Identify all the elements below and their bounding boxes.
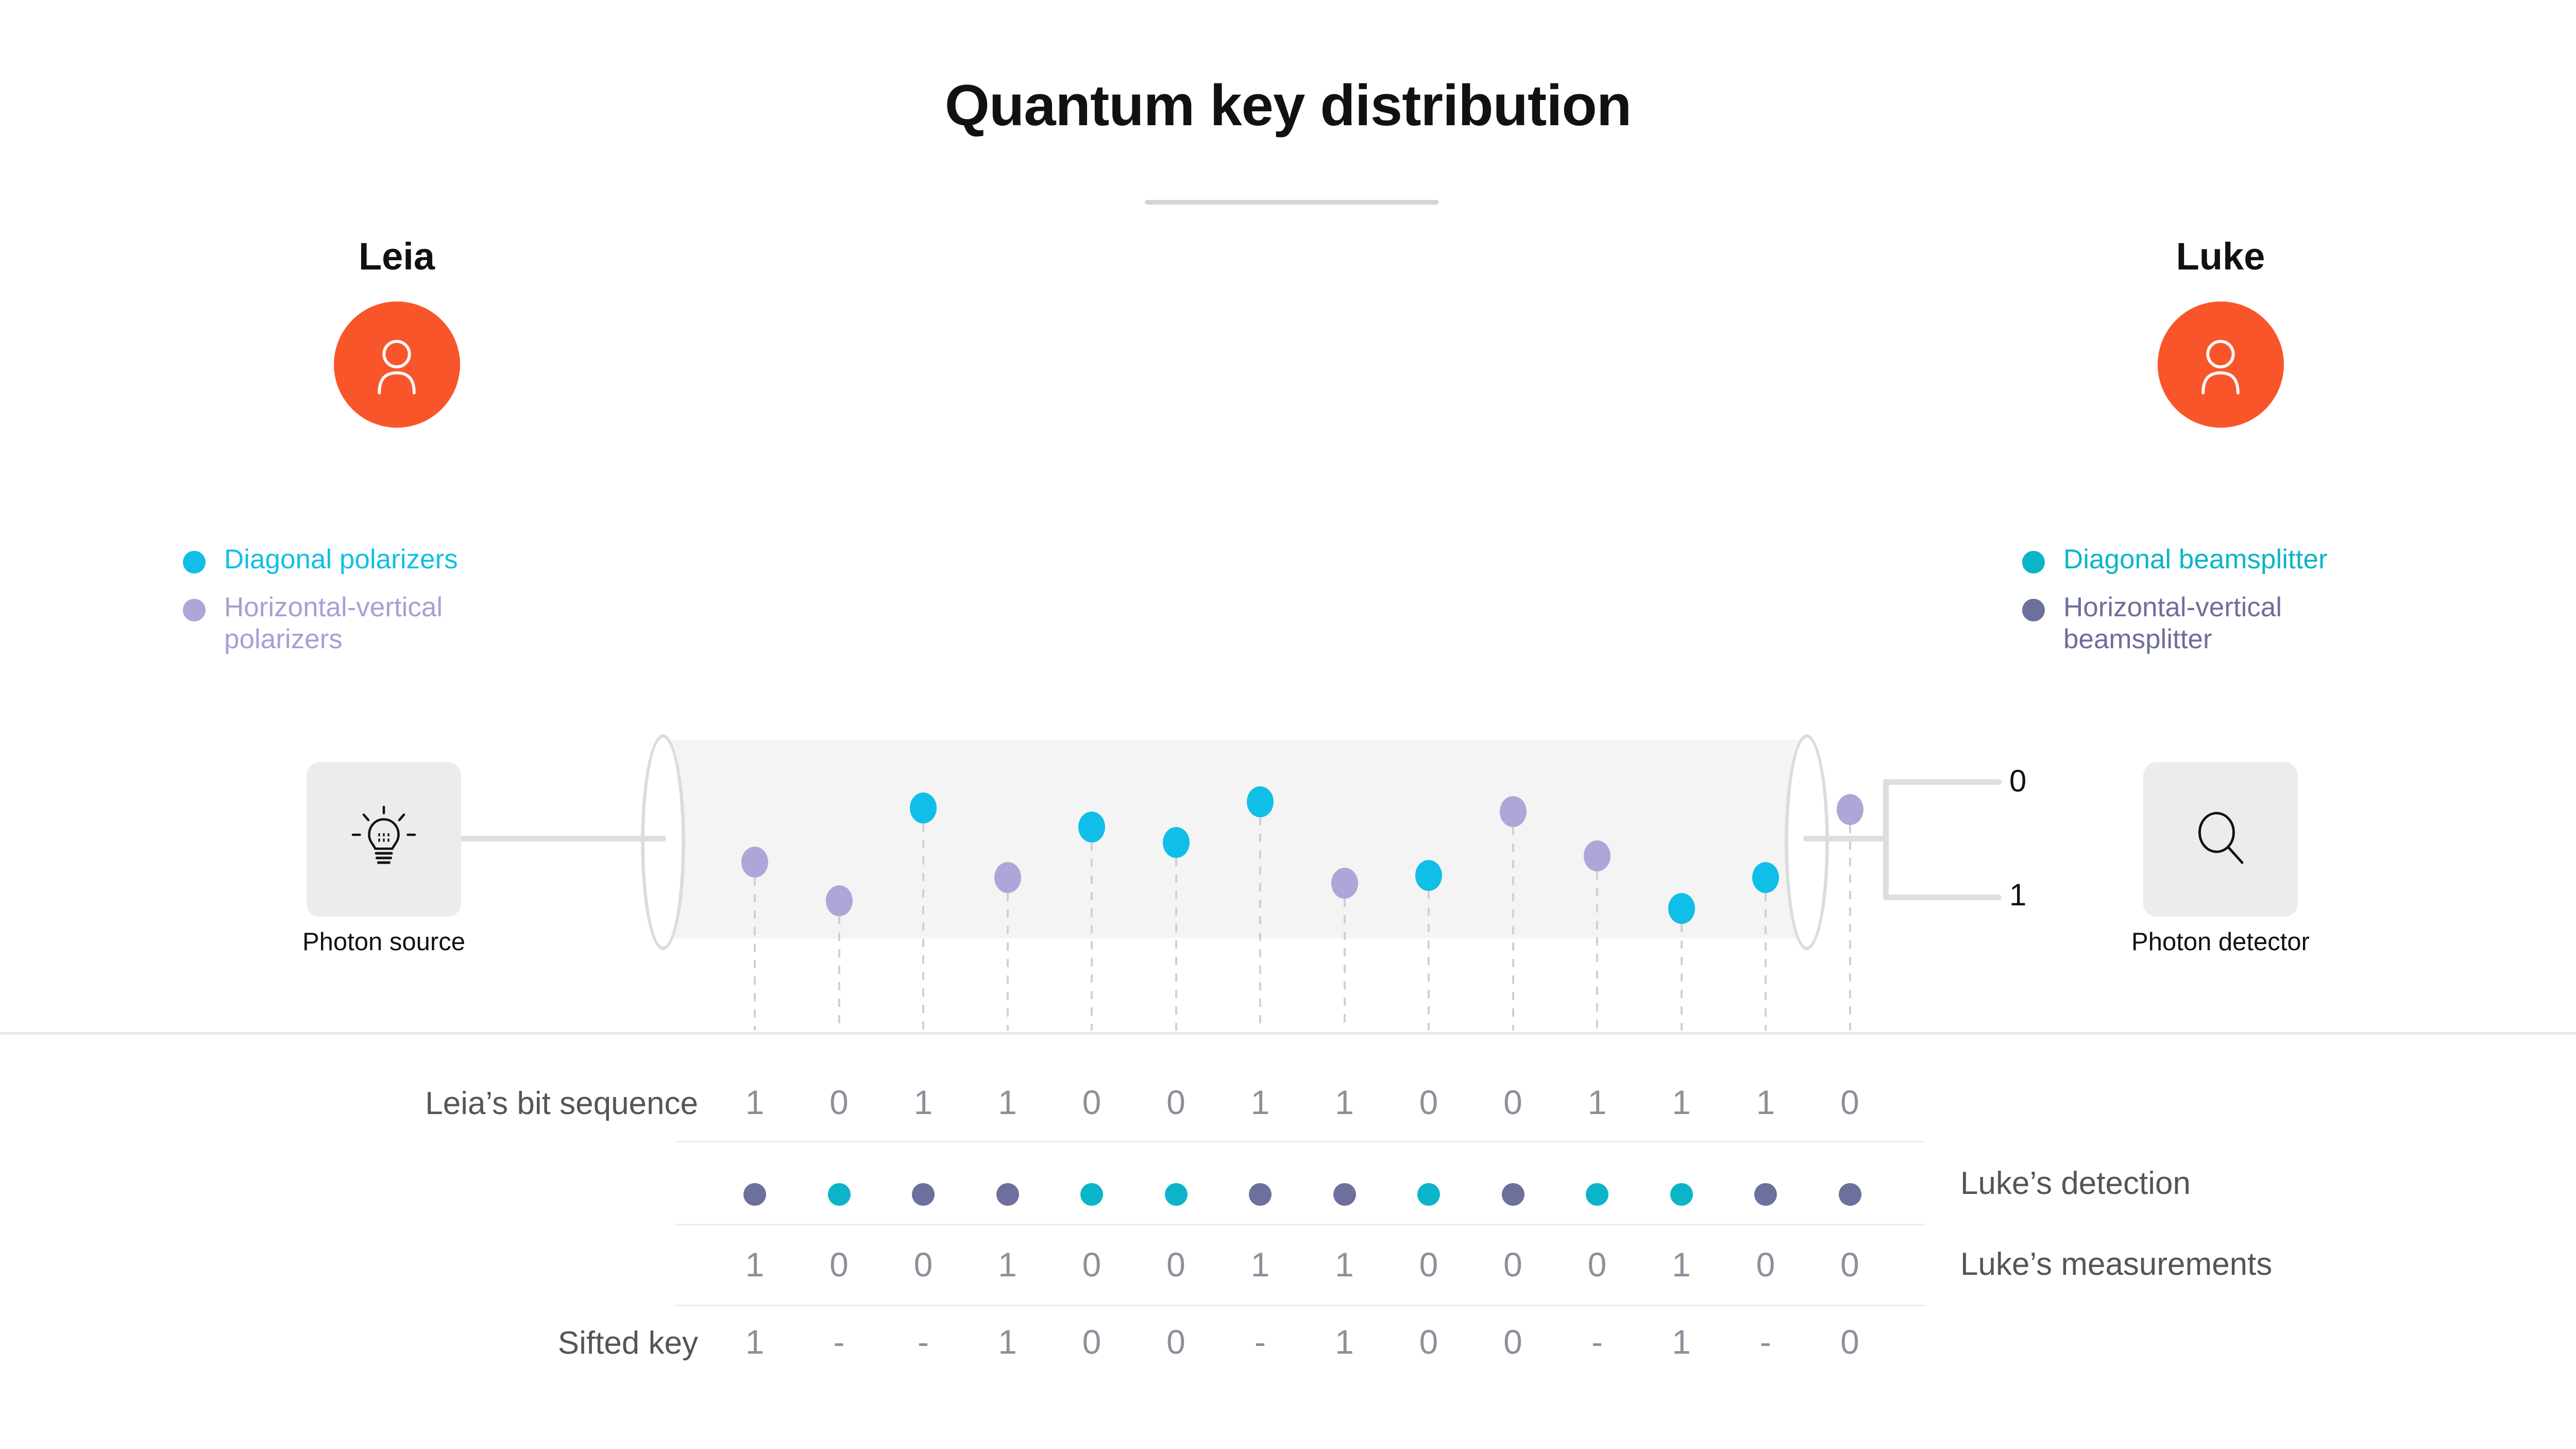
luke-measurement-cell: 1 xyxy=(977,1245,1039,1284)
photon-dropline xyxy=(1849,825,1851,1031)
leia-bit-cell: 0 xyxy=(808,1083,870,1122)
luke-detection-dot-hv xyxy=(912,1183,935,1206)
leia-bit-cell: 1 xyxy=(892,1083,954,1122)
photon-hv xyxy=(741,847,768,878)
sifted-key-cell: 0 xyxy=(1482,1322,1544,1361)
luke-detection-dot-hv xyxy=(1754,1183,1777,1206)
photon-dropline xyxy=(1681,924,1683,1031)
luke-measurement-cell: 0 xyxy=(1482,1245,1544,1284)
sifted-key-cell: 0 xyxy=(1819,1322,1881,1361)
luke-detection-dot-hv xyxy=(1839,1183,1861,1206)
leia-bit-cell: 0 xyxy=(1482,1083,1544,1122)
leia-bit-cell: 1 xyxy=(1735,1083,1797,1122)
photon-dropline xyxy=(1512,827,1514,1031)
photon-dropline xyxy=(1596,871,1598,1031)
row-separator-1 xyxy=(675,1141,1925,1142)
luke-measurement-cell: 1 xyxy=(1229,1245,1291,1284)
photon-layer xyxy=(0,0,2576,1062)
row-label-luke-measurements: Luke’s measurements xyxy=(1960,1246,2272,1283)
luke-measurement-cell: 0 xyxy=(1735,1245,1797,1284)
sifted-key-cell: 1 xyxy=(724,1322,786,1361)
photon-dropline xyxy=(1007,893,1009,1031)
luke-detection-dot-diag xyxy=(1165,1183,1188,1206)
sifted-key-cell: 0 xyxy=(1145,1322,1207,1361)
table-region: Leia’s bit sequence 10110011001110 Luke’… xyxy=(0,1034,2576,1446)
photon-dropline xyxy=(1428,891,1430,1031)
luke-measurement-cell: 0 xyxy=(1398,1245,1460,1284)
luke-detection-dot-diag xyxy=(1586,1183,1608,1206)
leia-bit-cell: 1 xyxy=(1651,1083,1713,1122)
photon-dropline xyxy=(1175,858,1177,1031)
photon-hv xyxy=(826,885,853,916)
row-separator-2 xyxy=(675,1224,1925,1225)
photon-diag xyxy=(1752,862,1779,893)
luke-detection-dot-hv xyxy=(996,1183,1019,1206)
photon-hv xyxy=(994,862,1021,893)
luke-detection-dot-hv xyxy=(1333,1183,1356,1206)
sifted-key-cell: - xyxy=(1229,1322,1291,1361)
leia-bit-cell: 0 xyxy=(1061,1083,1123,1122)
sifted-key-cell: 1 xyxy=(1651,1322,1713,1361)
luke-detection-dot-diag xyxy=(1417,1183,1440,1206)
sifted-key-cell: 0 xyxy=(1398,1322,1460,1361)
luke-detection-dot-hv xyxy=(1249,1183,1272,1206)
luke-measurement-cell: 1 xyxy=(724,1245,786,1284)
luke-detection-dot-diag xyxy=(1670,1183,1693,1206)
photon-hv xyxy=(1584,840,1611,871)
photon-dropline xyxy=(922,823,924,1031)
leia-bit-cell: 0 xyxy=(1145,1083,1207,1122)
luke-measurement-cell: 0 xyxy=(1061,1245,1123,1284)
photon-dropline xyxy=(754,878,756,1031)
leia-bit-cell: 1 xyxy=(724,1083,786,1122)
leia-bit-cell: 1 xyxy=(1566,1083,1628,1122)
row-label-leia-bits: Leia’s bit sequence xyxy=(183,1085,698,1122)
photon-diag xyxy=(1163,827,1190,858)
sifted-key-cell: 1 xyxy=(1314,1322,1376,1361)
photon-dropline xyxy=(1091,843,1093,1031)
luke-detection-dot-hv xyxy=(1502,1183,1524,1206)
photon-diag xyxy=(1247,786,1274,817)
photon-hv xyxy=(1500,796,1527,827)
row-label-sifted-key: Sifted key xyxy=(183,1325,698,1361)
luke-detection-dot-diag xyxy=(828,1183,851,1206)
photon-diag xyxy=(1078,812,1105,843)
luke-measurement-cell: 0 xyxy=(1145,1245,1207,1284)
luke-measurement-cell: 0 xyxy=(1819,1245,1881,1284)
leia-bit-cell: 1 xyxy=(977,1083,1039,1122)
luke-measurement-cell: 0 xyxy=(808,1245,870,1284)
photon-diag xyxy=(1415,860,1442,891)
luke-measurement-cell: 1 xyxy=(1651,1245,1713,1284)
sifted-key-cell: - xyxy=(892,1322,954,1361)
row-label-luke-detection: Luke’s detection xyxy=(1960,1165,2191,1202)
photon-diag xyxy=(910,793,937,823)
sifted-key-cell: - xyxy=(1735,1322,1797,1361)
sifted-key-cell: 0 xyxy=(1061,1322,1123,1361)
leia-bit-cell: 0 xyxy=(1819,1083,1881,1122)
photon-diag xyxy=(1668,893,1695,924)
leia-bit-cell: 1 xyxy=(1314,1083,1376,1122)
luke-measurement-cell: 0 xyxy=(1566,1245,1628,1284)
row-separator-3 xyxy=(675,1305,1925,1306)
sifted-key-cell: - xyxy=(1566,1322,1628,1361)
photon-dropline xyxy=(1765,893,1767,1031)
photon-hv xyxy=(1331,868,1358,899)
luke-measurement-cell: 1 xyxy=(1314,1245,1376,1284)
luke-measurement-cell: 0 xyxy=(892,1245,954,1284)
photon-dropline xyxy=(1259,817,1261,1031)
leia-bit-cell: 0 xyxy=(1398,1083,1460,1122)
sifted-key-cell: - xyxy=(808,1322,870,1361)
luke-detection-dot-hv xyxy=(743,1183,766,1206)
sifted-key-cell: 1 xyxy=(977,1322,1039,1361)
photon-dropline xyxy=(838,916,840,1031)
photon-hv xyxy=(1837,794,1863,825)
leia-bit-cell: 1 xyxy=(1229,1083,1291,1122)
luke-detection-dot-diag xyxy=(1080,1183,1103,1206)
photon-dropline xyxy=(1344,899,1346,1031)
